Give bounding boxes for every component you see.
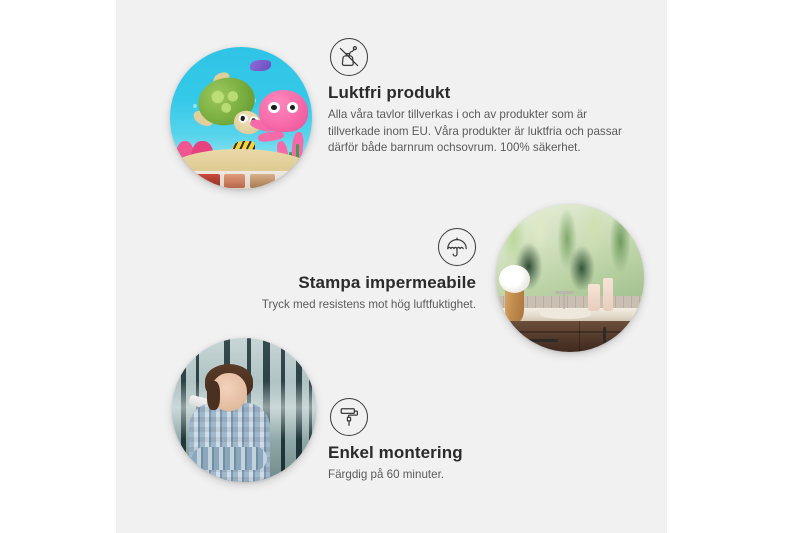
feature-body: Färgdig på 60 minuter. [328,467,588,483]
white-flowers [499,265,530,293]
purple-fish-icon [250,60,271,71]
bathroom-wallpaper-photo [496,204,644,352]
icon-row [328,398,588,436]
promo-graphic: Luktfri produkt Alla våra tavlor tillver… [0,0,800,533]
soap-bottle [588,284,600,311]
paint-roller-icon [330,398,368,436]
feature-odour-free: Luktfri produkt Alla våra tavlor tillver… [328,38,624,157]
feature-water-resistant: Stampa impermeabile Tryck med resistens … [220,228,476,314]
thumbnail [250,174,276,188]
octopus-head [259,90,307,133]
frame-strip [170,171,312,189]
bubble-icon [193,104,197,108]
painter-scene [172,338,316,482]
cabinet-pull [603,327,606,343]
content-panel: Luktfri produkt Alla våra tavlor tillver… [116,0,667,533]
no-fragrance-icon [330,38,368,76]
wooden-vanity [496,321,644,352]
feature-title: Luktfri produkt [328,83,624,103]
cabinet-seam [579,321,581,352]
octopus-eye [268,102,280,113]
feature-title: Enkel montering [328,443,588,463]
drawer-seam [496,331,644,333]
feature-body: Tryck med resistens mot hög luftfuktighe… [220,297,476,313]
octopus-eye [287,102,299,113]
faucet-icon [563,293,566,309]
drawer-pull [529,339,559,342]
thumbnail [224,174,245,188]
soap-bottle [603,278,613,311]
person-hair-side [207,381,220,410]
person-arms [192,447,267,470]
umbrella-icon [438,228,476,266]
underwater-scene [170,47,312,189]
bathroom-scene [496,204,644,352]
icon-row [328,38,624,76]
feature-body: Alla våra tavlor tillverkas i och av pro… [328,107,624,156]
person-torso [189,403,270,482]
painter-forest-photo [172,338,316,482]
faucet-spout [555,291,574,294]
feature-easy-mounting: Enkel montering Färgdig på 60 minuter. [328,398,588,484]
icon-row [220,228,476,266]
turtle-eye [237,113,248,124]
underwater-cartoon-photo [170,47,312,189]
thumbnail [196,174,220,188]
feature-title: Stampa impermeabile [220,273,476,293]
